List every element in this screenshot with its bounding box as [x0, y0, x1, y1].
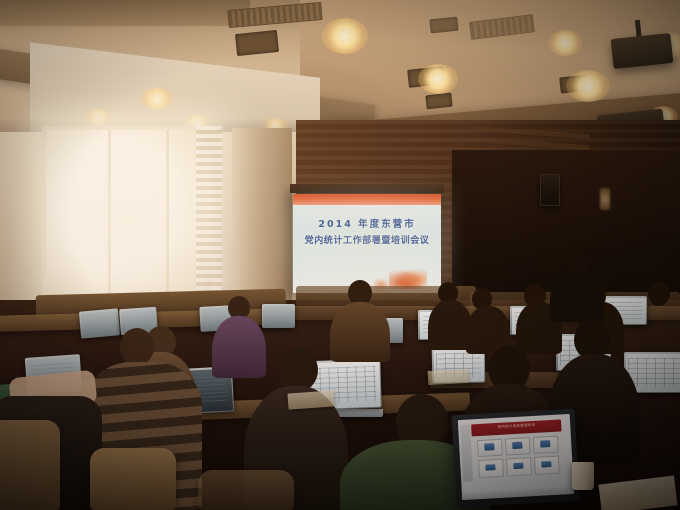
printed-handout — [428, 369, 469, 385]
app-module-grid[interactable] — [477, 435, 560, 478]
foreground-laptop[interactable]: 党内统计信息管理系统 — [452, 409, 580, 508]
spot-housing — [559, 74, 591, 93]
module-icon-1[interactable] — [477, 439, 503, 458]
screen-housing — [290, 184, 444, 193]
conference-room-photo: 2014 年度东营市 党内统计工作部署暨培训会议 — [0, 0, 680, 510]
chair — [0, 420, 60, 510]
white-cup[interactable] — [572, 462, 594, 490]
printed-handout — [287, 390, 334, 409]
spot-housing — [407, 66, 445, 88]
daylight-window — [46, 130, 213, 302]
slide-title-line2: 党内统计工作部署暨培训会议 — [293, 233, 441, 246]
attendee-body — [212, 316, 266, 378]
presenter-body — [550, 272, 604, 322]
slide-header-band — [293, 194, 441, 205]
module-icon-5[interactable] — [506, 458, 532, 477]
attendee-body — [330, 302, 390, 362]
laptop — [80, 310, 119, 337]
spot-housing — [425, 93, 452, 110]
app-title-text: 党内统计信息管理系统 — [472, 420, 562, 430]
ceiling-projector — [611, 33, 674, 69]
window-blind — [196, 126, 222, 306]
window-mullion — [166, 130, 169, 302]
wall-lamp — [600, 188, 610, 210]
module-icon-6[interactable] — [534, 456, 560, 475]
attendee-head — [120, 328, 154, 366]
app-status-bar — [462, 487, 574, 500]
module-icon-3[interactable] — [533, 435, 559, 454]
spot-housing — [235, 30, 279, 56]
window-mullion — [108, 130, 111, 302]
app-title-bar: 党内统计信息管理系统 — [471, 419, 561, 436]
projection-screen: 2014 年度东营市 党内统计工作部署暨培训会议 — [293, 194, 441, 293]
chair — [198, 470, 294, 510]
chair — [90, 448, 176, 510]
ceiling-soffit — [0, 0, 250, 26]
module-icon-2[interactable] — [505, 437, 531, 456]
foreground-laptop-screen: 党内统计信息管理系统 — [458, 414, 574, 500]
laptop — [262, 304, 295, 328]
slide-title-line1: 2014 年度东营市 — [293, 216, 441, 230]
spot-housing — [429, 17, 458, 34]
module-icon-4[interactable] — [478, 459, 504, 478]
attendee-head — [648, 282, 670, 306]
wall-speaker — [540, 174, 560, 206]
